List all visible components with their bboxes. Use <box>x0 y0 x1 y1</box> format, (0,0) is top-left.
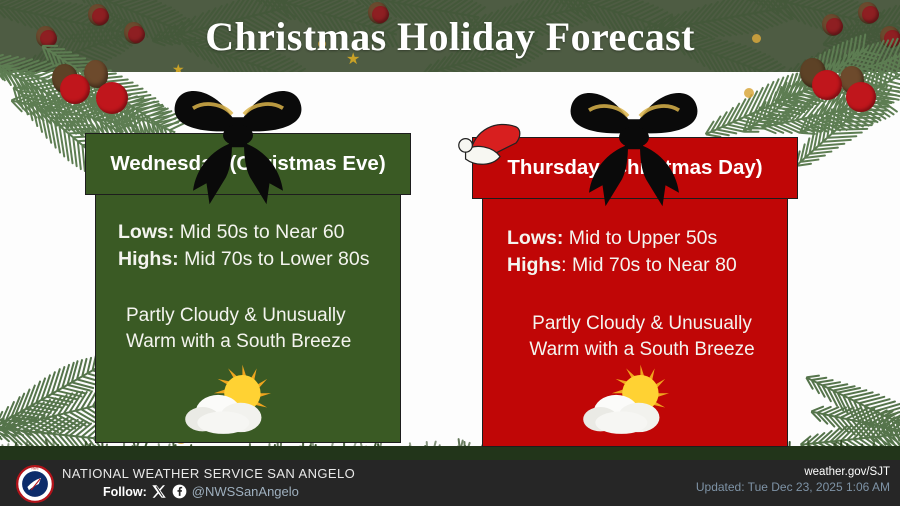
facebook-icon[interactable] <box>172 484 187 499</box>
follow-row: Follow: @NWSSanAngelo <box>103 484 299 499</box>
x-twitter-icon[interactable] <box>152 484 167 499</box>
highs-label: Highs <box>507 254 561 276</box>
card-title-thursday: Thursday (Christmas Day) <box>507 156 762 180</box>
highs-row-wednesday: Highs: Mid 70s to Lower 80s <box>118 246 388 273</box>
pine-branch-icon <box>9 87 142 139</box>
pine-branch-icon <box>759 87 892 139</box>
sun-behind-cloud-icon <box>578 362 682 442</box>
card-header-wednesday: Wednesday (Christmas Eve) <box>85 133 411 195</box>
description-thursday: Partly Cloudy & Unusually Warm with a So… <box>511 311 773 363</box>
page-title: Christmas Holiday Forecast <box>0 0 900 72</box>
lows-label: Lows: <box>507 227 563 249</box>
lows-value: Mid 50s to Near 60 <box>180 221 345 243</box>
lows-row-wednesday: Lows: Mid 50s to Near 60 <box>118 219 388 246</box>
social-handle[interactable]: @NWSSanAngelo <box>192 484 299 499</box>
holly-berry-icon <box>60 74 90 104</box>
description-wednesday: Partly Cloudy & Unusually Warm with a So… <box>126 303 384 355</box>
pine-branch-icon <box>787 75 894 175</box>
footer-org-block: NATIONAL WEATHER SERVICE SAN ANGELO <box>62 466 355 481</box>
footer-organization: NATIONAL WEATHER SERVICE SAN ANGELO <box>62 466 355 481</box>
holly-berry-icon <box>846 82 876 112</box>
follow-label: Follow: <box>103 485 147 499</box>
temps-thursday: Lows: Mid to Upper 50s Highs: Mid 70s to… <box>507 225 779 279</box>
highs-value: Mid 70s to Near 80 <box>572 254 737 276</box>
highs-value: Mid 70s to Lower 80s <box>184 248 369 270</box>
website-url[interactable]: weather.gov/SJT <box>696 466 890 478</box>
highs-row-thursday: Highs: Mid 70s to Near 80 <box>507 252 779 279</box>
temps-wednesday: Lows: Mid 50s to Near 60 Highs: Mid 70s … <box>118 219 388 273</box>
lows-value: Mid to Upper 50s <box>569 227 718 249</box>
card-title-wednesday: Wednesday (Christmas Eve) <box>110 152 385 176</box>
gold-ornament-icon <box>744 88 754 98</box>
sun-behind-cloud-icon <box>180 362 284 442</box>
footer-bar: NWS NATIONAL WEATHER SERVICE SAN ANGELO … <box>0 460 900 506</box>
grass-strip <box>0 446 900 460</box>
footer-right-block: weather.gov/SJT Updated: Tue Dec 23, 202… <box>696 466 890 494</box>
pine-branch-icon <box>700 73 820 146</box>
holly-berry-icon <box>812 70 842 100</box>
forecast-graphic: ★★ Christmas Holiday Forecast Wednesday … <box>0 0 900 506</box>
nws-logo-icon: NWS <box>16 465 54 503</box>
lows-row-thursday: Lows: Mid to Upper 50s <box>507 225 779 252</box>
holly-berry-icon <box>96 82 128 114</box>
updated-timestamp: Updated: Tue Dec 23, 2025 1:06 AM <box>696 480 890 494</box>
svg-text:NWS: NWS <box>31 467 38 471</box>
highs-label: Highs: <box>118 248 179 270</box>
card-header-thursday: Thursday (Christmas Day) <box>472 137 798 199</box>
lows-label: Lows: <box>118 221 174 243</box>
